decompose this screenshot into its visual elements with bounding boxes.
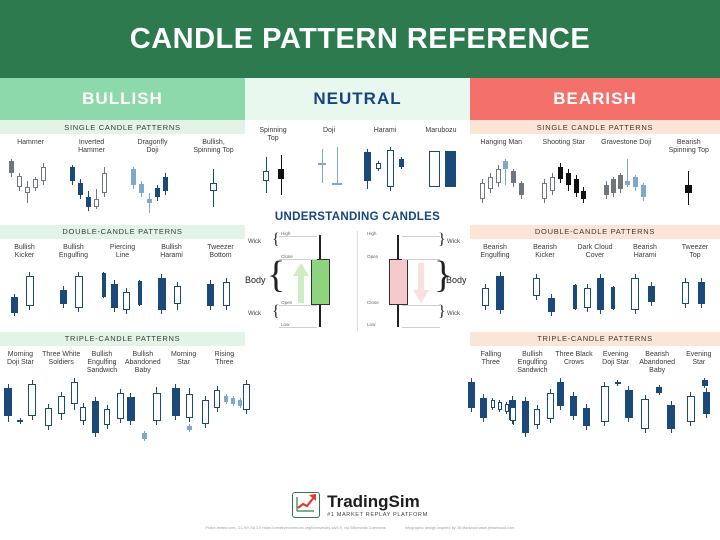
pattern-cell[interactable]: Bullish Engulfing Sandwich: [82, 346, 123, 441]
pattern-cell[interactable]: Gravestone Doji: [595, 134, 658, 217]
pattern-label: Tweezer Top: [682, 244, 708, 261]
bearish-single-row: Hanging ManShooting StarGravestone DojiB…: [470, 134, 720, 217]
candle-body: [92, 401, 99, 433]
candle-body: [503, 161, 508, 169]
brace-wick-bottom-bear: }: [438, 303, 446, 321]
candle-body: [142, 433, 147, 439]
candle-body: [4, 388, 12, 416]
pattern-chart: [421, 139, 461, 197]
pattern-cell[interactable]: Evening Star: [678, 346, 720, 441]
column-header-bullish: BULLISH: [0, 78, 245, 120]
bracket-label-body-bull: Body: [245, 275, 266, 285]
level-line-low-bear: [402, 327, 440, 328]
candle-body: [123, 292, 130, 310]
pattern-chart: [624, 264, 666, 322]
pattern-cell[interactable]: Dragonfly Doji: [122, 134, 183, 217]
candle-body: [399, 159, 404, 167]
pattern-label: Three White Soldiers: [42, 351, 80, 368]
candle-body: [522, 401, 529, 433]
header-bar: CANDLE PATTERN REFERENCE: [0, 0, 720, 78]
candle-body: [542, 183, 547, 199]
candle-body: [601, 386, 609, 422]
pattern-chart: [475, 151, 527, 209]
candle-body: [533, 278, 540, 296]
pattern-chart: [672, 159, 706, 217]
credit-right: Infographic design inspired by JB Marwoo…: [405, 526, 515, 530]
explainer-body-bear: [389, 259, 408, 305]
pattern-cell[interactable]: Evening Doji Star: [595, 346, 637, 441]
candle-body: [28, 384, 36, 416]
candle-body: [625, 390, 633, 418]
pattern-chart: [97, 264, 149, 322]
candle-body: [163, 177, 168, 191]
candle-body: [231, 398, 235, 404]
brace-wick-top-bull: {: [272, 231, 280, 249]
column-label-neutral: NEUTRAL: [313, 89, 401, 109]
candle-body: [111, 284, 118, 308]
candle-body: [611, 287, 615, 309]
candle-wick: [322, 149, 323, 183]
candle-body: [573, 285, 577, 309]
candle-body: [102, 173, 107, 193]
pattern-cell[interactable]: Tweezer Bottom: [196, 239, 245, 322]
level-line-high-bear: [402, 236, 440, 237]
pattern-chart: [633, 379, 681, 441]
candle-body: [557, 382, 564, 406]
candle-body: [9, 161, 14, 173]
candle-body: [534, 409, 540, 425]
pattern-label: Bearish Spinning Top: [669, 139, 709, 156]
candle-body: [17, 176, 22, 187]
candle-body: [584, 288, 591, 308]
pattern-chart: [599, 151, 653, 209]
column-header-bar: BULLISH NEUTRAL BEARISH: [0, 78, 720, 120]
candle-body: [45, 408, 52, 426]
candle-body: [41, 167, 46, 181]
pattern-cell[interactable]: Bearish Abandoned Baby: [636, 346, 678, 441]
pattern-cell[interactable]: Bearish Kicker: [520, 239, 570, 322]
candle-body: [131, 169, 136, 185]
pattern-chart: [357, 139, 413, 197]
bracket-label-wick-top-bear: Wick: [447, 239, 460, 245]
pattern-label: Doji: [323, 127, 335, 136]
section-band-bearish-single: SINGLE CANDLE PATTERNS: [470, 120, 720, 134]
candle-wick: [337, 147, 338, 185]
pattern-label: Hammer: [17, 139, 44, 148]
candle-body: [186, 394, 193, 418]
pattern-cell[interactable]: Bullish Kicker: [0, 239, 49, 322]
pattern-chart: [309, 139, 349, 197]
candle-body: [698, 282, 705, 304]
level-line-close-bear: [402, 305, 440, 306]
candle-body: [238, 400, 242, 406]
pattern-cell[interactable]: Bullish, Spinning Top: [183, 134, 244, 217]
candle-body: [498, 402, 502, 410]
candle-body: [223, 282, 230, 306]
candle-body: [667, 405, 675, 429]
candle-body: [332, 183, 342, 185]
up-arrow-icon: [293, 263, 309, 303]
pattern-label: Bullish, Spinning Top: [193, 139, 233, 156]
candle-body: [574, 179, 579, 193]
candle-body: [187, 426, 192, 430]
candle-body: [155, 188, 160, 197]
candle-body: [75, 276, 83, 308]
pattern-label: Bearish Harami: [633, 244, 657, 261]
pattern-label: Piercing Line: [110, 244, 135, 261]
pattern-chart: [53, 264, 95, 322]
candle-body: [387, 150, 394, 187]
pattern-cell[interactable]: Bearish Engulfing: [470, 239, 520, 322]
candle-body: [86, 197, 91, 207]
candle-body: [611, 179, 616, 193]
pattern-chart: [524, 264, 566, 322]
candle-body: [318, 163, 326, 165]
candle-wick: [149, 193, 150, 213]
level-label-high-bear: High: [367, 231, 376, 236]
brand-logo[interactable]: TradingSim #1 MARKET REPLAY PLATFORM: [0, 492, 720, 518]
section-band-bullish-single: SINGLE CANDLE PATTERNS: [0, 120, 245, 134]
level-line-low-bull: [279, 327, 317, 328]
pattern-cell[interactable]: Shooting Star: [533, 134, 596, 217]
brand-tagline: #1 MARKET REPLAY PLATFORM: [327, 512, 428, 518]
pattern-chart: [6, 151, 56, 209]
candle-body: [488, 177, 493, 189]
candle-body: [631, 278, 639, 310]
pattern-chart: [4, 264, 46, 322]
pattern-chart: [538, 151, 590, 209]
candle-body: [570, 396, 577, 416]
bracket-label-wick-bottom-bull: Wick: [248, 311, 261, 317]
section-band-bullish-triple: TRIPLE-CANDLE PATTERNS: [0, 332, 245, 346]
pattern-cell[interactable]: Dark Cloud Cover: [570, 239, 620, 322]
infographic-page: CANDLE PATTERN REFERENCE BULLISH NEUTRAL…: [0, 0, 720, 540]
pattern-chart: [66, 159, 118, 217]
footer: TradingSim #1 MARKET REPLAY PLATFORM Pro…: [0, 490, 720, 540]
candle-body: [147, 199, 152, 203]
candle-body: [174, 286, 181, 304]
pattern-label: Evening Star: [686, 351, 711, 368]
bullish-double-row: Bullish KickerBullish EngulfingPiercing …: [0, 239, 245, 322]
candle-body: [583, 408, 590, 426]
candle-body: [468, 382, 475, 408]
pattern-cell[interactable]: Bullish Abandoned Baby: [122, 346, 163, 441]
candle-body: [618, 175, 623, 189]
candle-body: [224, 396, 228, 402]
candle-body: [656, 387, 662, 393]
candle-body: [641, 185, 646, 197]
pattern-chart: [196, 370, 252, 432]
candle-body: [214, 390, 220, 408]
credit-left: Probe-meteo.com, CC BY-SA 3.0 https://cr…: [205, 526, 385, 530]
candle-body: [172, 388, 180, 416]
bracket-label-wick-top-bull: Wick: [248, 239, 261, 245]
candle-body: [127, 397, 135, 421]
level-line-high-bull: [279, 236, 317, 237]
understanding-candles-diagram: High Close Open Low { { { Wick Body Wick: [245, 227, 470, 335]
pattern-label: Inverted Hammer: [78, 139, 105, 156]
pattern-label: Dark Cloud Cover: [577, 244, 612, 261]
candle-body: [445, 151, 456, 187]
bullish-candle-explainer: High Close Open Low { { { Wick Body Wick: [245, 227, 357, 335]
bullish-column: SINGLE CANDLE PATTERNS HammerInverted Ha…: [0, 120, 245, 490]
candle-body: [11, 297, 18, 313]
candle-body: [682, 282, 689, 304]
pattern-label: Three Black Crows: [555, 351, 592, 368]
pattern-cell[interactable]: Spinning Top: [245, 122, 301, 205]
page-title: CANDLE PATTERN REFERENCE: [130, 23, 590, 56]
candle-body: [558, 167, 563, 179]
pattern-cell[interactable]: Tweezer Top: [670, 239, 720, 322]
pattern-cell[interactable]: Marubozu: [413, 122, 469, 205]
neutral-single-row: Spinning TopDojiHaramiMarubozu: [245, 120, 470, 205]
candle-body: [615, 382, 621, 384]
candle-body: [70, 167, 75, 181]
candle-body: [566, 173, 571, 185]
candle-body: [597, 278, 604, 310]
candle-body: [60, 290, 67, 304]
candle-body: [80, 407, 86, 421]
column-label-bullish: BULLISH: [82, 89, 163, 109]
pattern-cell[interactable]: Three Black Crows: [553, 346, 595, 441]
credits-line: Probe-meteo.com, CC BY-SA 3.0 https://cr…: [0, 526, 720, 530]
candle-body: [104, 409, 110, 425]
brand-name: TradingSim: [327, 493, 420, 510]
section-band-bullish-double: DOUBLE-CANDLE PATTERNS: [0, 225, 245, 239]
column-header-neutral: NEUTRAL: [245, 78, 470, 120]
candle-body: [102, 273, 106, 297]
candle-body: [685, 185, 692, 193]
bearish-candle-explainer: High Open Close Low } } } Wick Body Wick: [358, 227, 470, 335]
level-label-close-bear: Close: [367, 300, 379, 305]
candle-body: [376, 163, 381, 169]
bracket-label-body-bear: Body: [446, 275, 467, 285]
candle-body: [519, 183, 524, 195]
pattern-label: Bullish Engulfing Sandwich: [87, 351, 117, 376]
pattern-label: Bearish Engulfing: [480, 244, 509, 261]
pattern-cell[interactable]: Morning Doji Star: [0, 346, 41, 441]
candle-body: [429, 151, 440, 187]
candle-body: [604, 185, 609, 195]
candle-body: [17, 420, 23, 422]
pattern-cell[interactable]: Harami: [357, 122, 413, 205]
pattern-cell[interactable]: Bullish Engulfing Sandwich: [512, 346, 554, 441]
candle-body: [139, 184, 144, 193]
candle-body: [25, 187, 30, 193]
brand-text: TradingSim #1 MARKET REPLAY PLATFORM: [327, 493, 428, 518]
pattern-cell[interactable]: Piercing Line: [98, 239, 147, 322]
candle-body: [58, 396, 65, 414]
candle-body: [641, 399, 649, 429]
candle-body: [548, 298, 555, 312]
candle-body: [491, 400, 495, 408]
candle-body: [480, 183, 485, 199]
level-label-open-bull: Open: [281, 300, 292, 305]
candle-body: [78, 183, 83, 195]
pattern-label: Morning Star: [171, 351, 196, 368]
section-band-bearish-triple: TRIPLE-CANDLE PATTERNS: [470, 332, 720, 346]
candle-body: [210, 183, 217, 191]
pattern-cell[interactable]: Bullish Engulfing: [49, 239, 98, 322]
pattern-chart: [674, 264, 716, 322]
candle-body: [633, 177, 638, 187]
candle-body: [278, 169, 284, 179]
pattern-label: Evening Doji Star: [602, 351, 629, 368]
candle-body: [263, 171, 269, 181]
pattern-label: Bullish Engulfing Sandwich: [517, 351, 547, 376]
candle-body: [648, 286, 655, 302]
pattern-label: Bullish Harami: [160, 244, 183, 261]
level-label-low-bear: Low: [367, 322, 375, 327]
pattern-label: Bearish Kicker: [533, 244, 557, 261]
pattern-cell[interactable]: Bullish Harami: [147, 239, 196, 322]
candle-body: [625, 181, 630, 185]
pattern-label: Rising Three: [215, 351, 234, 368]
candle-body: [33, 179, 38, 188]
pattern-label: Bullish Kicker: [14, 244, 35, 261]
pattern-label: Harami: [374, 127, 397, 136]
bearish-column: SINGLE CANDLE PATTERNS Hanging ManShooti…: [470, 120, 720, 490]
pattern-label: Bearish Abandoned Baby: [639, 351, 675, 376]
pattern-label: Falling Three: [480, 351, 501, 368]
pattern-chart: [550, 370, 598, 432]
pattern-label: Bullish Engulfing: [59, 244, 88, 261]
pattern-chart: [119, 379, 167, 441]
pattern-chart: [474, 264, 516, 322]
understanding-candles-title: UNDERSTANDING CANDLES: [245, 211, 470, 223]
pattern-label: Morning Doji Star: [7, 351, 34, 368]
pattern-cell[interactable]: Doji: [301, 122, 357, 205]
brace-wick-bottom-bull: {: [272, 303, 280, 321]
candle-body: [158, 278, 166, 310]
pattern-chart: [0, 370, 42, 432]
pattern-chart: [194, 159, 234, 217]
candle-body: [482, 288, 489, 306]
bullish-triple-row: Morning Doji StarThree White SoldiersBul…: [0, 346, 245, 441]
candle-body: [364, 152, 371, 181]
level-label-low-bull: Low: [281, 322, 289, 327]
pattern-label: Hanging Man: [480, 139, 522, 148]
pattern-cell[interactable]: Bearish Harami: [620, 239, 670, 322]
level-label-high-bull: High: [281, 231, 290, 236]
level-line-open-bull: [279, 305, 317, 306]
pattern-label: Spinning Top: [259, 127, 286, 144]
candle-body: [202, 400, 209, 424]
candle-body: [496, 169, 501, 183]
candle-body: [94, 199, 99, 207]
brace-wick-top-bear: }: [438, 231, 446, 249]
pattern-cell[interactable]: Hanging Man: [470, 134, 533, 217]
pattern-chart: [127, 159, 179, 217]
neutral-column: Spinning TopDojiHaramiMarubozu UNDERSTAN…: [245, 120, 470, 490]
pattern-cell[interactable]: Hammer: [0, 134, 61, 217]
pattern-label: Shooting Star: [543, 139, 585, 148]
candle-body: [702, 380, 708, 386]
pattern-cell[interactable]: Bearish Spinning Top: [658, 134, 720, 217]
brace-body-bull: {: [267, 253, 285, 297]
pattern-cell[interactable]: Rising Three: [204, 346, 245, 441]
pattern-label: Dragonfly Doji: [138, 139, 168, 156]
pattern-label: Tweezer Bottom: [207, 244, 233, 261]
pattern-chart: [253, 147, 293, 205]
candle-body: [496, 276, 504, 310]
candle-body: [153, 393, 161, 421]
pattern-chart: [679, 370, 719, 432]
candle-body: [687, 396, 695, 422]
candle-body: [26, 276, 34, 306]
candle-body: [511, 171, 516, 183]
candle-body: [510, 407, 516, 421]
candle-body: [550, 177, 555, 191]
bracket-label-wick-bottom-bear: Wick: [447, 311, 460, 317]
pattern-chart: [594, 370, 638, 432]
candle-body: [480, 398, 487, 418]
column-label-bearish: BEARISH: [553, 89, 637, 109]
column-header-bearish: BEARISH: [470, 78, 720, 120]
chart-arrow-icon: [292, 492, 320, 518]
candle-body: [581, 191, 586, 199]
section-band-bearish-double: DOUBLE-CANDLE PATTERNS: [470, 225, 720, 239]
pattern-label: Marubozu: [425, 127, 456, 136]
pattern-chart: [151, 264, 193, 322]
candle-body: [703, 392, 710, 414]
candle-body: [138, 281, 142, 305]
pattern-label: Bullish Abandoned Baby: [125, 351, 161, 376]
pattern-cell[interactable]: Inverted Hammer: [61, 134, 122, 217]
bearish-triple-row: Falling ThreeBullish Engulfing SandwichT…: [470, 346, 720, 441]
explainer-body-bull: [311, 259, 330, 305]
bullish-single-row: HammerInverted HammerDragonfly DojiBulli…: [0, 134, 245, 217]
pattern-chart: [200, 264, 242, 322]
pattern-label: Gravestone Doji: [601, 139, 651, 148]
level-label-open-bear: Open: [367, 254, 378, 259]
candle-body: [207, 284, 214, 306]
pattern-chart: [568, 264, 622, 322]
bearish-double-row: Bearish EngulfingBearish KickerDark Clou…: [470, 239, 720, 322]
down-arrow-icon: [413, 263, 429, 303]
